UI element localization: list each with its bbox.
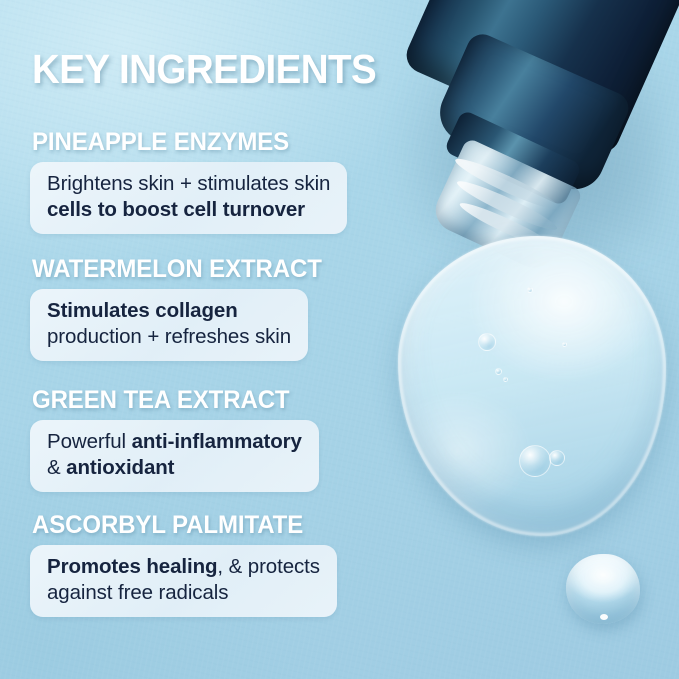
ingredient-description: Promotes healing, & protects against fre… [30, 545, 337, 617]
ingredient-description: Powerful anti-inflammatory & antioxidant [30, 420, 319, 492]
bottle-thread [457, 198, 557, 255]
description-line: Powerful anti-inflammatory [47, 429, 302, 456]
gel-droplet [398, 236, 666, 536]
description-regular: Powerful [47, 430, 132, 453]
ingredient-description: Stimulates collagen production + refresh… [30, 289, 308, 361]
bottle-thread [454, 175, 560, 235]
description-line: Brightens skin + stimulates skin [47, 171, 330, 198]
description-regular: , & protects [217, 555, 319, 578]
description-regular: against free radicals [47, 581, 228, 604]
description-regular: production + refreshes skin [47, 325, 291, 348]
description-regular: & [47, 456, 66, 479]
bottle-shadow [395, 10, 665, 250]
ingredient-heading: ASCORBYL PALMITATE [32, 512, 325, 539]
ingredient-block-ascorbyl-palmitate: ASCORBYL PALMITATE Promotes healing, & p… [30, 512, 337, 617]
air-bubble [519, 445, 551, 477]
ingredient-heading: WATERMELON EXTRACT [32, 256, 322, 283]
description-line: Stimulates collagen [47, 298, 291, 325]
bottle-ring [443, 109, 582, 206]
bottle-shoulder [431, 29, 634, 198]
key-ingredients-infographic: CLE KEY INGREDIENTS PINEAPPLE ENZYMES Br… [0, 0, 679, 679]
description-line: & antioxidant [47, 455, 302, 482]
description-bold: Promotes healing [47, 555, 217, 578]
description-bold: antioxidant [66, 456, 174, 479]
description-regular: Brightens skin + stimulates skin [47, 172, 330, 195]
air-bubble [549, 450, 565, 466]
bottle-neck [429, 137, 584, 274]
gel-droplet-rim [398, 236, 666, 536]
ingredient-heading: GREEN TEA EXTRACT [32, 387, 307, 414]
ingredient-description: Brightens skin + stimulates skin cells t… [30, 162, 347, 234]
air-bubble [495, 368, 502, 375]
ingredient-heading: PINEAPPLE ENZYMES [32, 129, 335, 156]
description-line: Promotes healing, & protects [47, 554, 320, 581]
ingredient-block-watermelon-extract: WATERMELON EXTRACT Stimulates collagen p… [30, 256, 334, 361]
description-line: against free radicals [47, 580, 320, 607]
product-bottle: CLE [401, 0, 679, 158]
small-droplet [566, 554, 640, 624]
air-bubble [478, 333, 496, 351]
bottle-label-text: CLE [524, 77, 574, 116]
description-bold: anti-inflammatory [132, 430, 302, 453]
page-title: KEY INGREDIENTS [32, 49, 376, 90]
air-bubble [562, 342, 567, 347]
description-bold: Stimulates collagen [47, 299, 238, 322]
ingredient-block-pineapple-enzymes: PINEAPPLE ENZYMES Brightens skin + stimu… [30, 129, 347, 234]
description-line: production + refreshes skin [47, 324, 291, 351]
air-bubble [503, 377, 508, 382]
description-line: cells to boost cell turnover [47, 197, 330, 224]
ingredient-block-green-tea-extract: GREEN TEA EXTRACT Powerful anti-inflamma… [30, 387, 319, 492]
bottle-thread [452, 153, 562, 216]
air-bubble [527, 287, 533, 293]
description-bold: cells to boost cell turnover [47, 198, 305, 221]
small-droplet-highlight [600, 614, 608, 620]
